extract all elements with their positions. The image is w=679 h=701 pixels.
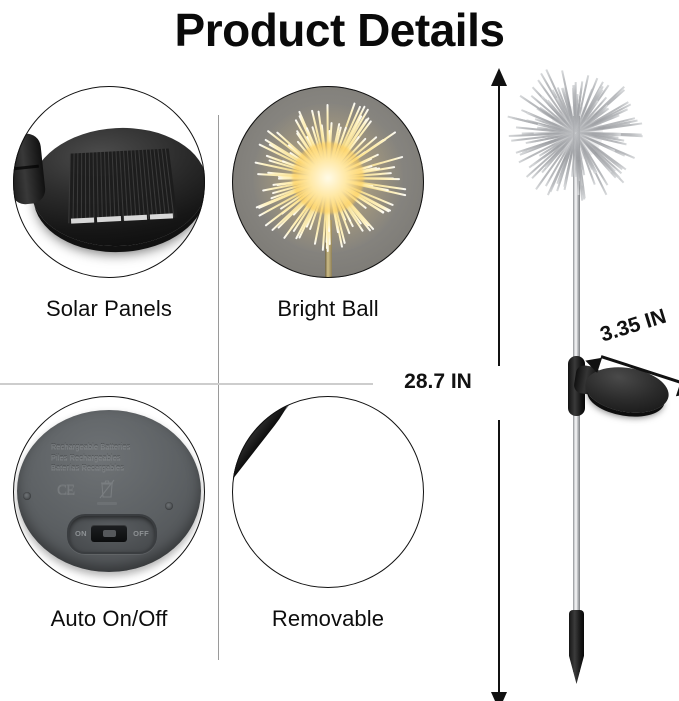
battery-text-en: Rechargeable Batteries: [51, 442, 171, 453]
ball-core-light: [292, 142, 364, 214]
screw-hole-left: [23, 492, 31, 500]
feature-cell-auto-on-off: Rechargeable Batteries Piles Rechargeabl…: [0, 388, 218, 668]
bright-ball-circle: [232, 86, 424, 278]
product-photo-with-dimensions: 28.7 IN 3.35 IN: [437, 50, 679, 701]
dimension-line-bottom: [498, 420, 500, 698]
dimension-line-top: [498, 82, 500, 382]
width-dimension-label: 3.35 IN: [597, 305, 669, 348]
feature-label-auto-on-off: Auto On/Off: [0, 606, 218, 632]
power-switch[interactable]: ON OFF: [67, 514, 157, 554]
solar-panel-photo: [13, 86, 205, 278]
width-dimension-arrow: 3.35 IN: [589, 338, 679, 386]
feature-cell-bright-ball: Bright Ball: [219, 78, 437, 358]
product-dandelion-ball: [505, 62, 647, 204]
feature-label-solar-panels: Solar Panels: [0, 296, 218, 322]
product-ground-stake: [569, 610, 584, 684]
switch-on-label: ON: [75, 529, 87, 538]
arrowhead-down-icon: [491, 692, 507, 701]
auto-on-off-circle: Rechargeable Batteries Piles Rechargeabl…: [13, 396, 205, 588]
solar-panels-circle: [13, 86, 205, 278]
switch-off-label: OFF: [133, 529, 149, 538]
back-panel-slot: [97, 502, 117, 505]
solar-panel-clamp: [13, 132, 47, 205]
screw-hole-right: [165, 502, 173, 510]
height-dimension-label: 28.7 IN: [373, 366, 503, 398]
feature-cell-removable: Removable: [219, 388, 437, 668]
product-details-infographic: Product Details Solar Panels: [0, 0, 679, 701]
horizontal-divider: [0, 383, 437, 385]
weee-bin-icon: [99, 478, 115, 499]
feature-label-bright-ball: Bright Ball: [219, 296, 437, 322]
detachable-stake-rods-photo: [232, 396, 424, 588]
battery-text-es: Baterías Recargables: [51, 463, 171, 474]
switch-slider-handle[interactable]: [91, 525, 127, 542]
black-stake-tip: [232, 396, 299, 490]
illuminated-dandelion-photo: [232, 86, 424, 278]
ce-mark-icon: CE: [57, 482, 74, 499]
removable-circle: [232, 396, 424, 588]
feature-cell-solar-panels: Solar Panels: [0, 78, 218, 358]
solar-cell-grid: [68, 148, 177, 223]
feature-label-removable: Removable: [219, 606, 437, 632]
dimension-line-diagonal: [601, 355, 679, 384]
battery-back-panel-photo: Rechargeable Batteries Piles Rechargeabl…: [13, 396, 205, 588]
battery-text-fr: Piles Rechargeables: [51, 453, 171, 464]
back-panel-embossed-text: Rechargeable Batteries Piles Rechargeabl…: [51, 442, 171, 474]
ball-center: [549, 106, 603, 160]
